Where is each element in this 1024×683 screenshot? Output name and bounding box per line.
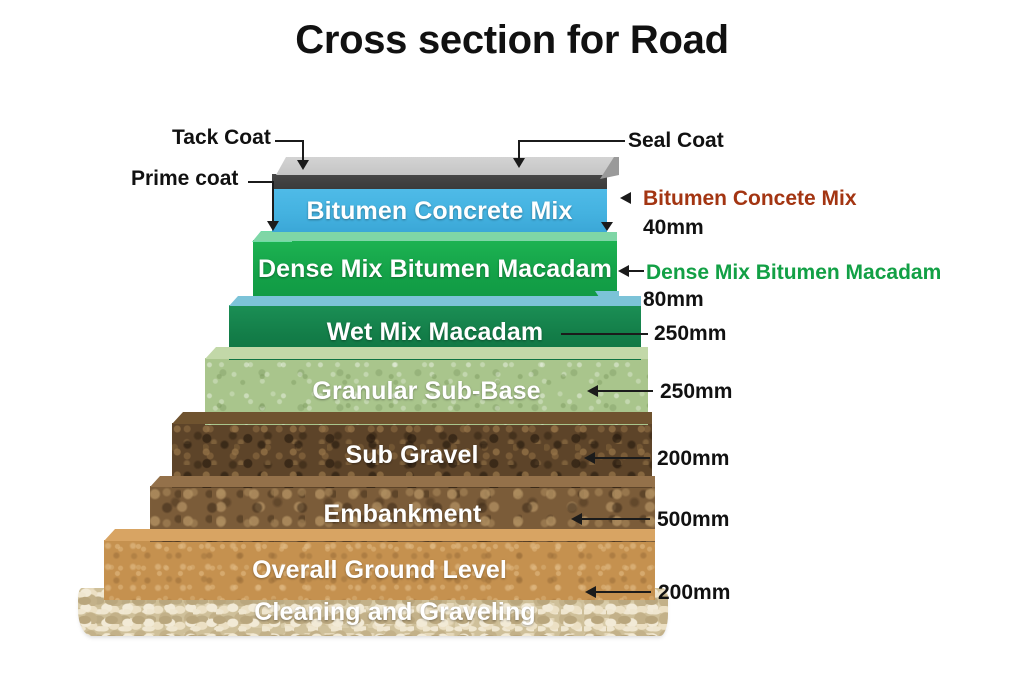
prime-coat-connector-h	[248, 181, 274, 183]
dense-mix-bitumen-macadam-leader	[628, 270, 644, 272]
layer-bitumen-concrete-mix: Bitumen Concrete Mix	[272, 188, 607, 234]
callout-prime-coat: Prime coat	[131, 167, 238, 191]
layer-sub-gravel: Sub Gravel	[172, 423, 652, 488]
dim-wet-mix-macadam: 250mm	[654, 322, 726, 346]
embankment-label: Embankment	[150, 486, 655, 542]
callout-bitumen-concete-mix: Bitumen Concete Mix	[643, 187, 857, 211]
seal-coat-connector-h	[519, 140, 625, 142]
layer-dense-mix-bitumen-macadam: Dense Mix Bitumen Macadam	[253, 240, 617, 298]
diagram-canvas: Cross section for Road Cleaning and Grav…	[0, 0, 1024, 683]
page-title: Cross section for Road	[0, 18, 1024, 63]
layer-wet-mix-macadam: Wet Mix Macadam	[229, 305, 641, 360]
tack-coat-connector-h	[275, 140, 304, 142]
dim-granular-sub-base: 250mm	[660, 380, 732, 404]
overall-ground-level-label: Overall Ground Level	[104, 540, 655, 600]
dim-sub-gravel: 200mm	[657, 447, 729, 471]
layer-seal-coat	[276, 157, 619, 175]
bitumen-dark-band	[272, 174, 607, 189]
layer-overall-ground-level: Overall Ground Level	[104, 540, 655, 600]
tack-coat-connector-v	[302, 140, 304, 162]
tack-coat-arrow	[297, 160, 309, 170]
seal-coat-connector-v	[518, 140, 520, 160]
dim-embankment: 500mm	[657, 508, 729, 532]
bitumen-concete-mix-arrow	[620, 192, 631, 204]
layer-granular-sub-base: Granular Sub-Base	[205, 358, 648, 425]
granular-sub-base-label: Granular Sub-Base	[205, 358, 648, 425]
bitumen-concrete-mix-label: Bitumen Concrete Mix	[272, 188, 607, 234]
callout-seal-coat: Seal Coat	[628, 129, 724, 153]
callout-dense-mix-bitumen-macadam: Dense Mix Bitumen Macadam	[646, 261, 941, 285]
layer-embankment: Embankment	[150, 486, 655, 542]
sub-gravel-label: Sub Gravel	[172, 423, 652, 488]
dim-dense-mix-bitumen-macadam: 80mm	[643, 288, 704, 312]
dense-mix-bitumen-macadam-label: Dense Mix Bitumen Macadam	[253, 240, 617, 298]
callout-tack-coat: Tack Coat	[172, 126, 271, 150]
dim-bitumen-concrete-mix: 40mm	[643, 216, 704, 240]
seal-coat-arrow	[513, 158, 525, 168]
wet-mix-macadam-label: Wet Mix Macadam	[229, 305, 641, 360]
